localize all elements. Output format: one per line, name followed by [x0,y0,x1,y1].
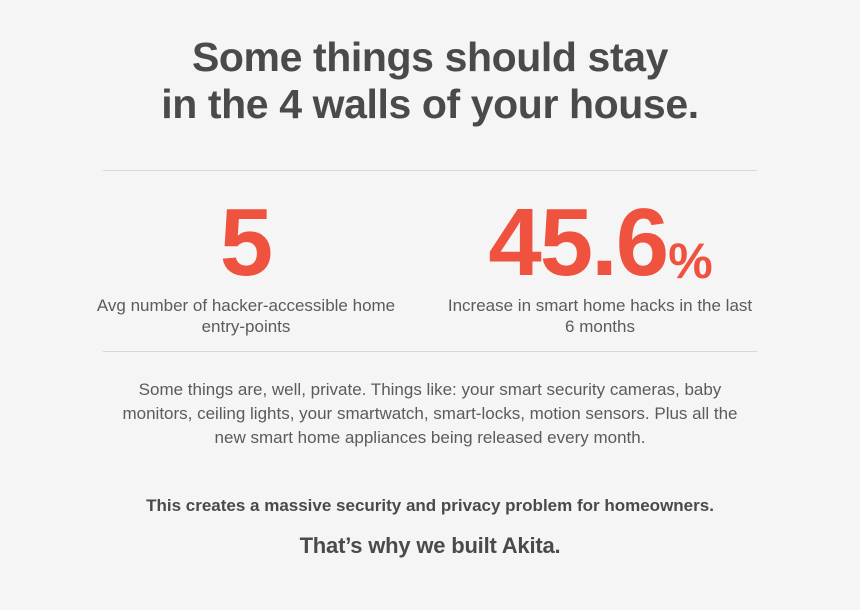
closing-statement: This creates a massive security and priv… [80,495,780,517]
stat-number: 5 [220,206,271,281]
stat-block-entry-points: 5 Avg number of hacker-accessible home e… [85,189,415,337]
body-paragraph: Some things are, well, private. Things l… [110,378,750,450]
page-title-line-1: Some things should stay [80,34,780,81]
stat-value-hack-increase: 45.6 % [488,189,711,281]
closing-tagline: That’s why we built Akita. [80,533,780,559]
page-title: Some things should stay in the 4 walls o… [80,30,780,128]
stat-number: 45.6 [488,206,667,281]
infographic-panel: Some things should stay in the 4 walls o… [0,0,860,610]
stat-caption-entry-points: Avg number of hacker-accessible home ent… [91,295,401,337]
divider-bottom [103,351,757,352]
stat-caption-hack-increase: Increase in smart home hacks in the last… [445,295,755,337]
page-title-line-2: in the 4 walls of your house. [80,81,780,128]
stat-suffix: % [667,242,711,281]
stat-block-hack-increase: 45.6 % Increase in smart home hacks in t… [415,189,775,337]
stats-row: 5 Avg number of hacker-accessible home e… [65,171,795,351]
closing-block: This creates a massive security and priv… [80,495,780,559]
stat-value-entry-points: 5 [220,189,272,281]
